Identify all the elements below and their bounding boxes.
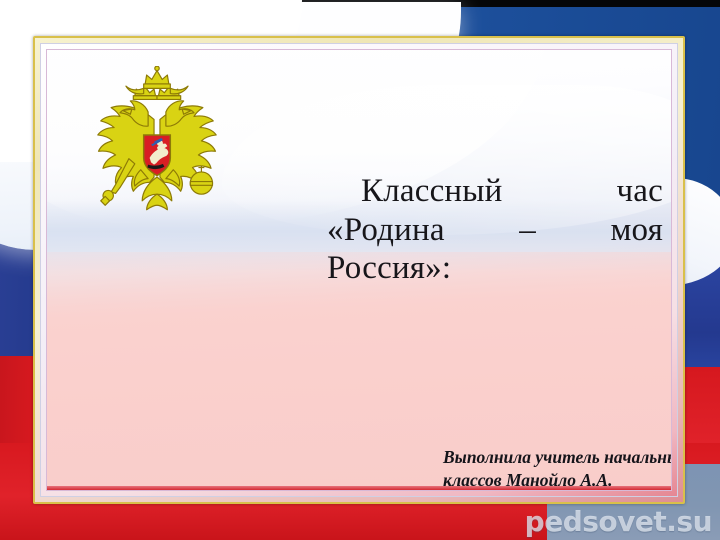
russian-coat-of-arms-icon: [83, 66, 231, 218]
slide-title: Классный час «Родина – моя Россия»:: [327, 172, 663, 326]
decorative-frame-outer: Классный час «Родина – моя Россия»: Выпо…: [33, 36, 685, 504]
slide-content-panel: Классный час «Родина – моя Россия»: Выпо…: [46, 49, 672, 491]
decorative-frame-middle: Классный час «Родина – моя Россия»: Выпо…: [40, 43, 678, 497]
slide-author: Выполнила учитель начальных классов Мано…: [443, 446, 672, 491]
presentation-slide: Классный час «Родина – моя Россия»: Выпо…: [0, 0, 720, 540]
site-watermark: pedsovet.su: [525, 505, 712, 538]
